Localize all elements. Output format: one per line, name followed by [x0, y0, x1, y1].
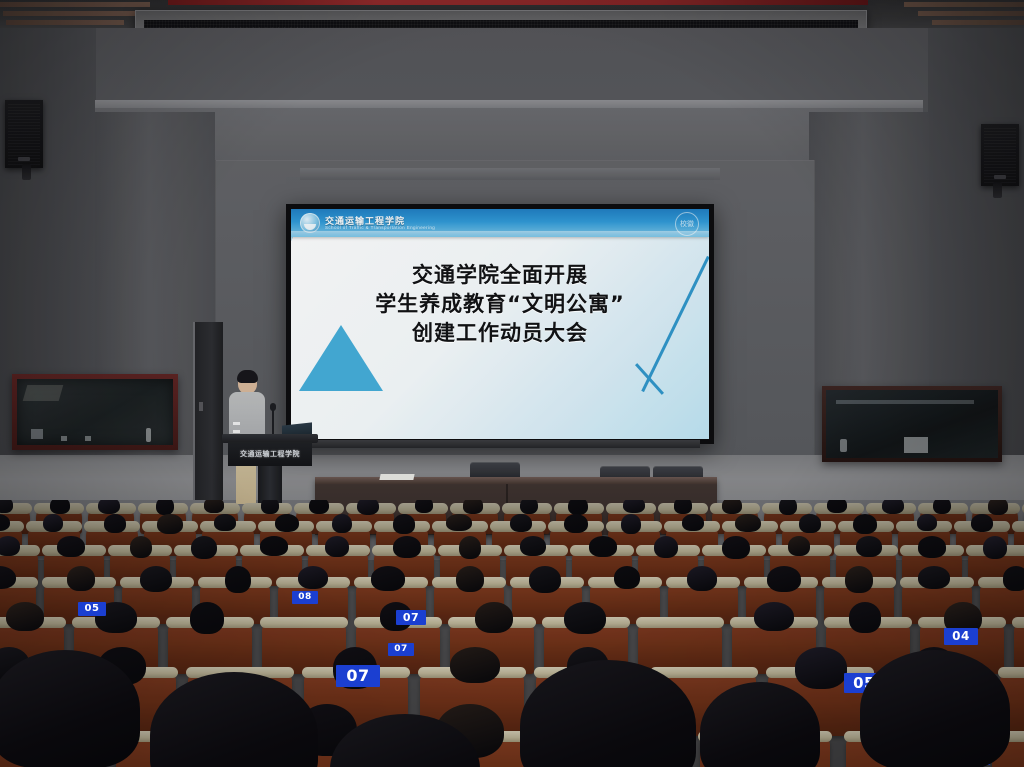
audience-member-head — [298, 566, 328, 589]
audience-member-head — [849, 602, 882, 632]
audience-member-head — [845, 566, 874, 593]
audience-member-head — [261, 500, 278, 514]
seat-number-badge: 04 — [944, 628, 978, 645]
wall-speaker-left — [5, 100, 43, 168]
display-case-right — [822, 386, 1002, 462]
presenter-hair — [237, 370, 258, 383]
seat-number-badge: 05 — [78, 602, 106, 616]
audience-member-head — [0, 536, 20, 556]
audience-member-head — [204, 500, 225, 513]
audience-member-head — [357, 500, 379, 515]
seat-number-badge: 07 — [396, 610, 426, 625]
audience-member-head — [788, 536, 810, 556]
seat-headrest — [1012, 617, 1024, 628]
seat-number-badge: 07 — [388, 643, 414, 656]
audience-member-head — [827, 500, 847, 513]
speaker-logo — [994, 175, 1006, 179]
audience-member-head — [459, 536, 481, 559]
audience-member-head — [275, 514, 299, 532]
audience-member-head — [156, 500, 174, 515]
audience-member-head — [614, 566, 641, 589]
audience-member-head — [779, 500, 796, 515]
audience-member-head — [1003, 566, 1024, 591]
audience-member-head — [853, 514, 877, 534]
slide-title-block: 交通学院全面开展 学生养成教育“文明公寓” 创建工作动员大会 — [291, 261, 709, 348]
slide-title-line-3: 创建工作动员大会 — [291, 319, 709, 348]
audience-member-head — [463, 500, 484, 514]
projection-screen: 交通运输工程学院 School of Traffic & Transportat… — [291, 209, 709, 439]
audience-member-head — [190, 602, 225, 634]
audience-member-head — [415, 500, 433, 513]
audience-member-head — [332, 514, 352, 533]
case-shelf — [836, 400, 974, 404]
case-item — [904, 437, 928, 453]
audience-member-head — [799, 514, 820, 533]
case-item — [85, 436, 91, 441]
audience-member-head — [157, 514, 182, 534]
display-case-glass — [826, 390, 998, 458]
audience-member-head — [191, 536, 216, 559]
slide-title-line-2: 学生养成教育“文明公寓” — [291, 290, 709, 319]
audience-member-head — [568, 500, 588, 515]
audience-member-head — [475, 602, 512, 632]
audience-member-head — [735, 514, 760, 532]
slide-title-line-1: 交通学院全面开展 — [291, 261, 709, 290]
audience-member-head — [988, 500, 1009, 515]
audience-member-head — [971, 514, 994, 532]
case-item — [61, 436, 67, 441]
speaker-mount-left — [22, 164, 31, 180]
audience-member-head — [918, 536, 947, 558]
audience-member-head — [98, 500, 120, 514]
audience-member-head-foreground — [860, 650, 1010, 767]
case-item — [840, 439, 847, 452]
audience-member-head — [623, 500, 645, 513]
audience-member-head — [654, 536, 678, 558]
seat-headrest — [636, 617, 724, 628]
audience-member-head — [393, 536, 420, 558]
audience-member-head — [260, 536, 289, 556]
seat-number-badge: 07 — [336, 665, 380, 687]
audience-member-head — [225, 566, 252, 593]
audience-member-head — [140, 566, 172, 592]
speaker-logo — [18, 157, 30, 161]
audience-member-head — [674, 500, 692, 514]
seat-headrest — [998, 667, 1024, 678]
table-paper — [379, 474, 414, 480]
audience-member-head — [687, 566, 717, 591]
audience-member-head — [104, 514, 127, 533]
lectern: 交通运输工程学院 — [228, 434, 312, 506]
lectern-front-text: 交通运输工程学院 — [240, 449, 300, 459]
wall-seam — [814, 160, 815, 460]
seat-number-badge: 08 — [292, 591, 318, 604]
audience-member-head — [214, 514, 235, 531]
audience-member-head — [767, 566, 801, 592]
audience-member-head — [456, 566, 485, 592]
audience-member-head — [682, 514, 705, 531]
lectern-front-panel: 交通运输工程学院 — [228, 442, 312, 466]
audience-member-head — [130, 536, 152, 558]
audience-member-head — [917, 514, 937, 531]
door-handle-icon — [199, 402, 203, 411]
audience-member-head — [309, 500, 329, 514]
audience-member-head — [856, 536, 881, 557]
side-door[interactable] — [193, 322, 223, 500]
school-seal-icon: 校徽 — [675, 212, 699, 236]
case-item — [31, 429, 43, 439]
audience-member-head — [722, 536, 749, 559]
audience-member-head — [983, 536, 1007, 559]
audience-member-head — [450, 647, 500, 683]
upper-wall-band — [95, 108, 923, 168]
audience-member-head — [621, 514, 641, 534]
slide-header-bar: 交通运输工程学院 School of Traffic & Transportat… — [291, 209, 709, 237]
ceiling-red-trim — [168, 0, 868, 5]
glass-reflection — [23, 385, 64, 401]
display-case-glass — [17, 379, 173, 445]
wall-speaker-right — [981, 124, 1019, 186]
audience-member-head — [882, 500, 904, 514]
audience-member-head — [371, 566, 405, 591]
audience-member-head — [393, 514, 416, 534]
seat-headrest — [1012, 521, 1024, 532]
seat-headrest — [260, 617, 348, 628]
audience-member-head — [6, 602, 43, 631]
head-table-top — [315, 477, 717, 484]
audience-member-head — [529, 566, 561, 593]
audience-member-head — [67, 566, 96, 591]
screen-soffit-lip — [300, 168, 720, 180]
audience-member-head — [57, 536, 84, 557]
projection-screen-frame: 交通运输工程学院 School of Traffic & Transportat… — [286, 204, 714, 444]
slide-org-name-en: School of Traffic & Transportation Engin… — [325, 225, 435, 230]
audience-member-head — [589, 536, 618, 557]
screen-bottom-trim — [300, 440, 700, 448]
audience-member-head — [918, 566, 950, 589]
school-logo-icon — [300, 213, 320, 233]
case-item — [146, 428, 151, 442]
audience-member-head — [510, 514, 531, 532]
audience-area: 050807070707040505 — [0, 500, 1024, 767]
speaker-mount-right — [993, 182, 1002, 198]
audience-member-head — [564, 602, 606, 634]
audience-member-head — [43, 514, 63, 532]
audience-member-head — [446, 514, 471, 531]
audience-member-head — [50, 500, 70, 514]
audience-member-head-foreground — [0, 650, 140, 767]
display-case-left — [12, 374, 178, 450]
audience-member-head — [325, 536, 349, 557]
audience-member-head — [564, 514, 588, 533]
audience-member-head — [0, 500, 13, 513]
speaker-grille — [8, 103, 40, 165]
conference-hall-photo: · · · · · · · · · · · · · · · · · · · · … — [0, 0, 1024, 767]
audience-member-head — [520, 536, 545, 556]
audience-member-head — [795, 647, 848, 689]
audience-member-head — [520, 500, 537, 514]
audience-member-head — [754, 602, 794, 631]
